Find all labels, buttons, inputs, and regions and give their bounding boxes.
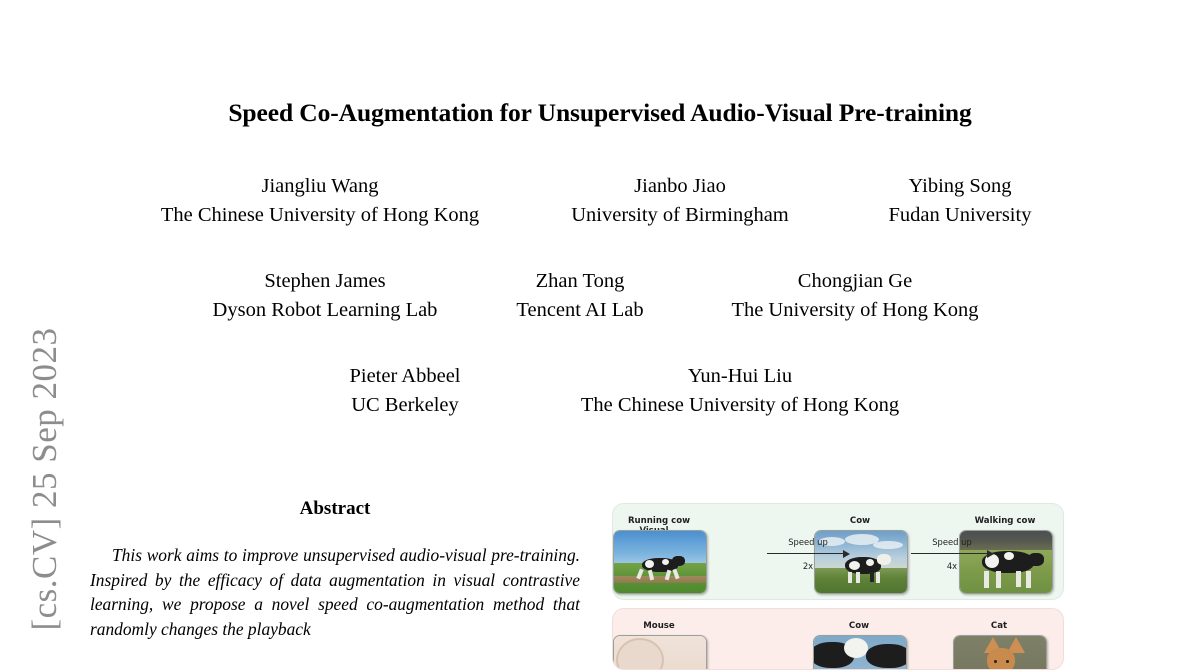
author-row: Stephen James Dyson Robot Learning Lab Z… [90,267,1110,325]
page-title: Speed Co-Augmentation for Unsupervised A… [90,98,1110,128]
author-name: Chongjian Ge [685,267,1025,296]
author-block: Jianbo Jiao University of Birmingham [530,172,830,230]
abstract-body: This work aims to improve unsupervised a… [90,543,580,641]
arrow-line [765,549,851,559]
author-block: Jiangliu Wang The Chinese University of … [110,172,530,230]
author-affiliation: University of Birmingham [530,201,830,230]
figure-visual-panel: Visual Cow [612,503,1064,600]
thumb-caption: Cat [953,621,1045,631]
arxiv-stamp: [cs.CV] 25 Sep 2023 [0,0,90,648]
arrow-label: Speed up [765,536,851,549]
speed-up-arrow-1: Speed up 2x [765,536,851,571]
author-row: Pieter Abbeel UC Berkeley Yun-Hui Liu Th… [90,362,1110,420]
thumb-caption: Cow [813,621,905,631]
author-block: Yun-Hui Liu The Chinese University of Ho… [540,362,940,420]
author-block: Yibing Song Fudan University [830,172,1090,230]
author-row: Jiangliu Wang The Chinese University of … [90,172,1110,230]
arrow-multiplier: 2x [765,561,851,571]
audio-thumb-column: Cow [813,621,905,670]
author-name: Yibing Song [830,172,1090,201]
arxiv-stamp-text: [cs.CV] 25 Sep 2023 [25,327,65,630]
thumb-caption: Running cow [613,516,705,526]
arrow-line [909,549,995,559]
mouse-audio-image [613,635,707,670]
author-list: Jiangliu Wang The Chinese University of … [90,172,1110,420]
audio-thumb-column: Mouse [613,621,705,670]
visual-thumb-column: Running cow [613,516,705,594]
cat-audio-image [953,635,1047,670]
author-affiliation: UC Berkeley [270,391,540,420]
speed-up-arrow-2: Speed up 4x [909,536,995,571]
cow-audio-image [813,635,907,670]
author-affiliation: The University of Hong Kong [685,296,1025,325]
author-block: Chongjian Ge The University of Hong Kong [685,267,1025,325]
author-block: Zhan Tong Tencent AI Lab [475,267,685,325]
arrow-label: Speed up [909,536,995,549]
thumb-caption: Walking cow [959,516,1051,526]
author-name: Pieter Abbeel [270,362,540,391]
abstract-section: Abstract This work aims to improve unsup… [90,498,580,641]
author-affiliation: Fudan University [830,201,1090,230]
author-name: Yun-Hui Liu [540,362,940,391]
author-block: Stephen James Dyson Robot Learning Lab [175,267,475,325]
thumb-caption: Mouse [613,621,705,631]
figure-audio-panel: Audio Cow Cat [612,608,1064,670]
abstract-heading: Abstract [90,498,580,520]
author-affiliation: Tencent AI Lab [475,296,685,325]
teaser-figure: Visual Cow [612,503,1064,670]
author-affiliation: Dyson Robot Learning Lab [175,296,475,325]
author-affiliation: The Chinese University of Hong Kong [110,201,530,230]
author-name: Stephen James [175,267,475,296]
thumb-caption: Cow [814,516,906,526]
author-affiliation: The Chinese University of Hong Kong [540,391,940,420]
author-name: Jianbo Jiao [530,172,830,201]
author-block: Pieter Abbeel UC Berkeley [270,362,540,420]
arrow-multiplier: 4x [909,561,995,571]
cow-running-image [613,530,707,594]
author-name: Zhan Tong [475,267,685,296]
author-name: Jiangliu Wang [110,172,530,201]
audio-thumb-column: Cat [953,621,1045,670]
